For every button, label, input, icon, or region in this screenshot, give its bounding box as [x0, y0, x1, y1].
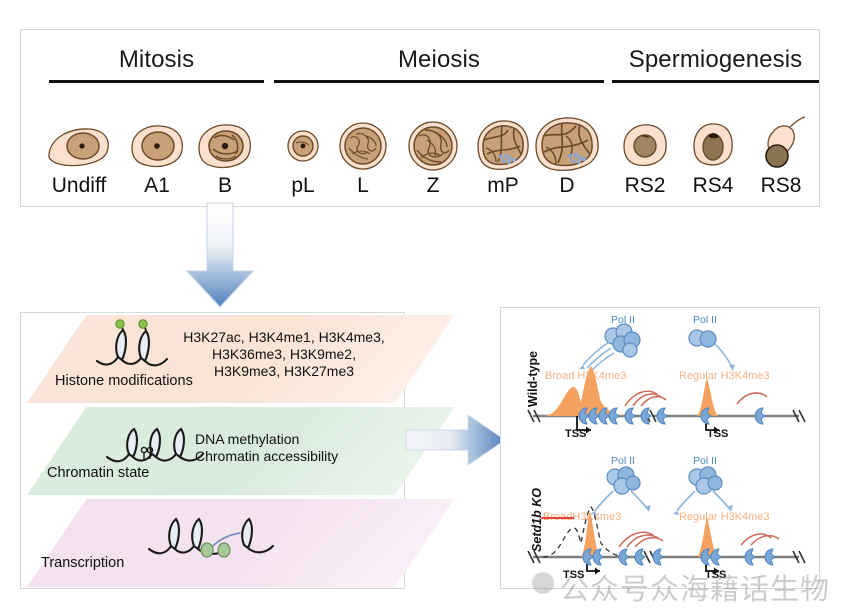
cell-icon-zygotene	[395, 116, 471, 174]
cell-stage-z: Z	[395, 116, 471, 196]
arrow-layers-to-model	[406, 413, 506, 467]
figure-canvas: Mitosis Meiosis Spermiogenesis Undiff A1	[0, 0, 841, 616]
layer-chromatin-state: Chromatin state DNA methylation Chromati…	[27, 407, 395, 495]
model-row-setd1b-ko: Setd1b KO Pol II Pol II BroadH3K4me3 Reg…	[501, 449, 819, 590]
model-wt-graphic	[501, 308, 821, 449]
cell-icon-spermatogonium-round	[119, 116, 195, 174]
polii-cluster-wt-left	[605, 324, 640, 357]
stage-group-spermiogenesis: Spermiogenesis	[612, 46, 819, 83]
stage-group-meiosis: Meiosis	[274, 46, 604, 83]
cell-icon-spermatogonium-condensed	[187, 116, 263, 174]
stage-group-spermiogenesis-label: Spermiogenesis	[612, 46, 819, 74]
transcription-glyph	[147, 515, 277, 565]
cell-icon-diplotene	[529, 116, 605, 174]
cell-icon-leptotene	[325, 116, 401, 174]
layer-transcription-label: Transcription	[41, 555, 124, 571]
cell-stage-label: B	[187, 175, 263, 196]
cell-icon-spermatogonium-flat	[41, 116, 117, 174]
cell-icon-round-spermatid-2	[607, 116, 683, 174]
layer-histone-content: H3K27ac, H3K4me1, H3K4me3, H3K36me3, H3K…	[179, 329, 389, 380]
layer-histone-label: Histone modifications	[55, 373, 193, 389]
chromatin-state-glyph	[105, 425, 205, 471]
stage-group-mitosis-label: Mitosis	[49, 46, 264, 74]
stage-group-mitosis: Mitosis	[49, 46, 264, 83]
cell-stage-label: D	[529, 175, 605, 196]
cell-stage-d: D	[529, 116, 605, 196]
cell-icon-elongating-spermatid-8	[743, 116, 819, 174]
cell-stage-label: A1	[119, 175, 195, 196]
model-row-wild-type: Wild-type Pol II Pol II Broad H3K4me3 Re…	[501, 308, 819, 449]
layer-histone-modifications: Histone modifications H3K27ac, H3K4me1, …	[27, 315, 395, 403]
layer-chromatin-line-1: DNA methylation	[195, 431, 395, 448]
cell-stage-label: RS8	[743, 175, 819, 196]
cell-stage-undiff: Undiff	[41, 116, 117, 196]
stage-group-meiosis-label: Meiosis	[274, 46, 604, 74]
cell-stage-row: Undiff A1 B pL	[21, 116, 819, 204]
cell-stage-a1: A1	[119, 116, 195, 196]
arrow-stages-to-layers	[175, 203, 265, 311]
model-panel: Wild-type Pol II Pol II Broad H3K4me3 Re…	[500, 307, 820, 589]
stage-group-meiosis-rule	[274, 80, 604, 83]
polii-elongating-wt-regular	[755, 408, 765, 424]
layers-panel: Histone modifications H3K27ac, H3K4me1, …	[20, 312, 405, 589]
cell-stage-l: L	[325, 116, 401, 196]
polii-cluster-ko-right	[689, 467, 722, 494]
stages-panel: Mitosis Meiosis Spermiogenesis Undiff A1	[20, 29, 820, 207]
layer-histone-line-1: H3K27ac, H3K4me1, H3K4me3,	[179, 329, 389, 346]
cell-stage-rs8: RS8	[743, 116, 819, 196]
layer-chromatin-content: DNA methylation Chromatin accessibility	[195, 431, 395, 465]
cell-stage-b: B	[187, 116, 263, 196]
stage-group-mitosis-rule	[49, 80, 264, 83]
histone-modification-glyph	[95, 321, 175, 373]
layer-histone-line-2: H3K36me3, H3K9me2,	[179, 346, 389, 363]
cell-stage-label: Z	[395, 175, 471, 196]
cell-stage-rs4: RS4	[675, 116, 751, 196]
model-ko-graphic	[501, 449, 821, 590]
cell-stage-label: Undiff	[41, 175, 117, 196]
cell-stage-label: L	[325, 175, 401, 196]
cell-icon-round-spermatid-4	[675, 116, 751, 174]
cell-stage-rs2: RS2	[607, 116, 683, 196]
stage-group-spermiogenesis-rule	[612, 80, 819, 83]
layer-transcription: Transcription	[27, 499, 395, 587]
cell-stage-label: RS4	[675, 175, 751, 196]
layer-histone-line-3: H3K9me3, H3K27me3	[179, 363, 389, 380]
cell-stage-label: RS2	[607, 175, 683, 196]
polii-cluster-wt-right	[689, 330, 716, 347]
polii-elongating-wt-broad	[625, 408, 667, 424]
polii-cluster-ko-left	[607, 467, 640, 494]
layer-chromatin-line-2: Chromatin accessibility	[195, 448, 395, 465]
polii-elongating-ko-broad	[619, 549, 663, 565]
